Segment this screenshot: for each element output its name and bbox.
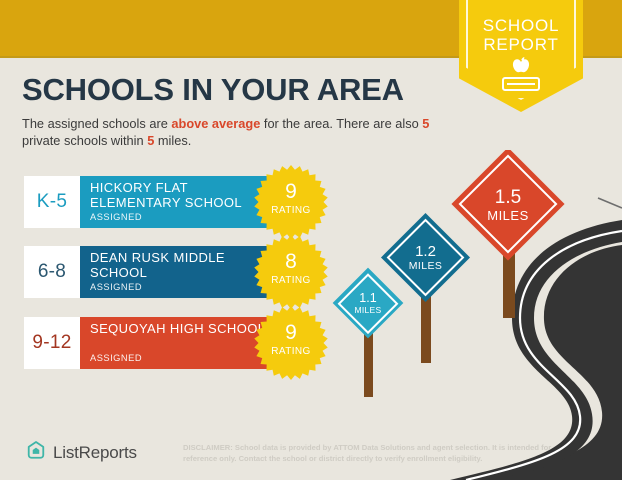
badge-line-1: SCHOOL <box>459 16 583 35</box>
sign-value: 1.2 <box>388 244 463 260</box>
rating-value: 9 <box>254 322 328 343</box>
grade-range-label: K-5 <box>37 191 67 213</box>
school-name: SEQUOYAH HIGH SCHOOL <box>90 322 275 337</box>
grade-range-box: 6-8 <box>24 246 80 298</box>
school-name: HICKORY FLAT ELEMENTARY SCHOOL <box>90 181 275 210</box>
school-assigned-label: ASSIGNED <box>90 212 142 222</box>
sign-value: 1.1 <box>338 292 398 305</box>
sign-value: 1.5 <box>462 188 554 208</box>
listreports-wordmark: ListReports <box>53 443 137 463</box>
sign-unit: MILES <box>338 306 398 315</box>
sign-unit: MILES <box>388 261 463 272</box>
apple-on-book-icon <box>495 56 547 98</box>
road-illustration: 1.5 MILES 1.2 MILES 1.1 MILES <box>330 150 622 480</box>
grade-range-box: 9-12 <box>24 317 80 369</box>
grade-range-label: 9-12 <box>32 332 71 354</box>
school-row[interactable]: K-5 HICKORY FLAT ELEMENTARY SCHOOL ASSIG… <box>24 176 310 228</box>
page-title: SCHOOLS IN YOUR AREA <box>22 72 404 108</box>
listreports-house-icon <box>26 440 46 465</box>
school-report-badge-title: SCHOOL REPORT <box>459 16 583 54</box>
sign-unit: MILES <box>462 209 554 223</box>
rating-badge: 9 RATING <box>254 165 328 239</box>
disclaimer-text: DISCLAIMER: School data is provided by A… <box>183 443 555 464</box>
badge-line-2: REPORT <box>459 35 583 54</box>
school-assigned-label: ASSIGNED <box>90 353 142 363</box>
school-assigned-label: ASSIGNED <box>90 282 142 292</box>
subtitle-part-4: miles. <box>154 133 191 148</box>
listreports-logo[interactable]: ListReports <box>26 440 137 465</box>
subtitle-highlight-private-count: 5 <box>422 116 429 131</box>
subtitle-part-1: The assigned schools are <box>22 116 171 131</box>
rating-caption: RATING <box>254 275 328 286</box>
rating-value: 8 <box>254 251 328 272</box>
grade-range-label: 6-8 <box>38 261 66 283</box>
subtitle-highlight-above-average: above average <box>171 116 260 131</box>
rating-value: 9 <box>254 181 328 202</box>
page-subtitle: The assigned schools are above average f… <box>22 115 442 149</box>
subtitle-part-2: for the area. There are also <box>260 116 422 131</box>
rating-caption: RATING <box>254 205 328 216</box>
rating-badge: 8 RATING <box>254 235 328 309</box>
rating-caption: RATING <box>254 346 328 357</box>
rating-badge: 9 RATING <box>254 306 328 380</box>
grade-range-box: K-5 <box>24 176 80 228</box>
school-row[interactable]: 9-12 SEQUOYAH HIGH SCHOOL ASSIGNED 9 RAT… <box>24 317 310 369</box>
school-report-infographic: 1510 BATESVILLE ROAD, CANTON, GA 30115 S… <box>0 0 622 480</box>
school-name: DEAN RUSK MIDDLE SCHOOL <box>90 251 275 280</box>
subtitle-part-3: private schools within <box>22 133 147 148</box>
school-row[interactable]: 6-8 DEAN RUSK MIDDLE SCHOOL ASSIGNED 8 R… <box>24 246 310 298</box>
